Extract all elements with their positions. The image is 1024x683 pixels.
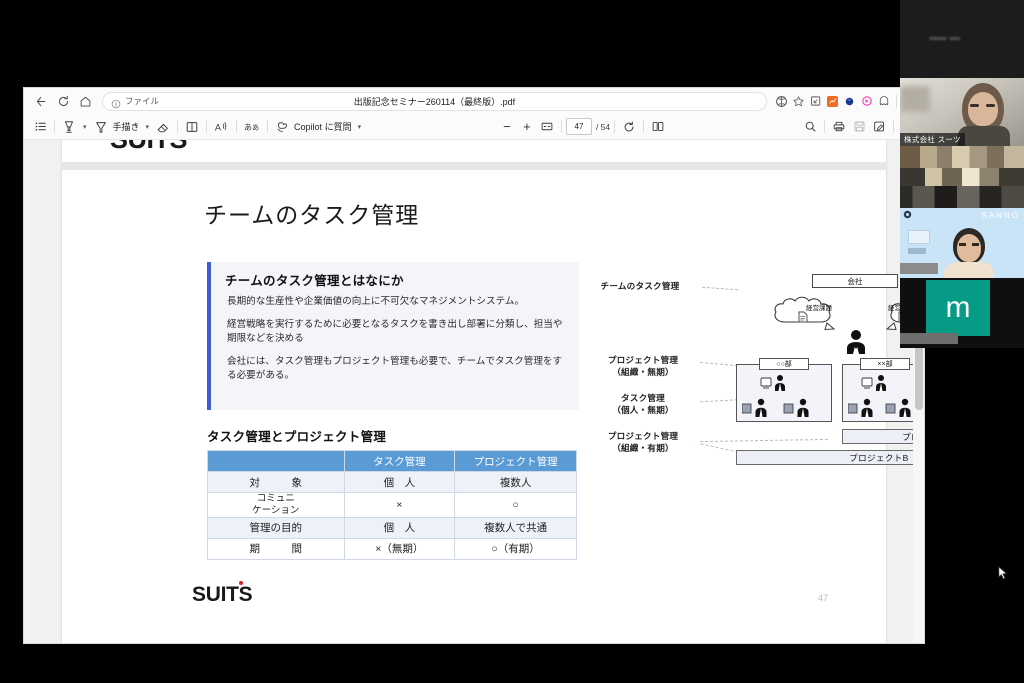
table-cell-task: ×（無期） — [344, 538, 455, 559]
page-number-input[interactable]: 47 — [566, 118, 592, 135]
previous-page-brand-logo: SUITS — [110, 140, 187, 155]
copilot-label[interactable]: Copilot に質問 — [292, 120, 354, 133]
svg-text:A: A — [215, 122, 222, 132]
project-bar-b-label: プロジェクトB — [849, 452, 908, 464]
table-cell-task: 個 人 — [344, 517, 455, 538]
leader-person-icon — [842, 328, 870, 356]
toolbar-divider — [177, 120, 178, 133]
project-bar-b: プロジェクトB — [736, 450, 924, 465]
copilot-chevron-down-icon[interactable]: ▾ — [354, 123, 366, 131]
table-cell-project: 複数人で共通 — [455, 517, 577, 538]
table-cell-label: 対 象 — [208, 472, 345, 493]
toolbar-divider — [236, 120, 237, 133]
split-screen-icon[interactable] — [807, 93, 824, 110]
participant-name-bar — [900, 333, 958, 344]
company-box: 会社 — [812, 274, 898, 288]
browser-window: ファイル 出版記念セミナー260114（最終版）.pdf — [24, 88, 924, 643]
draw-label[interactable]: 手描き — [111, 120, 142, 133]
participant-eye-right — [972, 243, 979, 246]
toolbar-divider — [206, 120, 207, 133]
address-scheme-label: ファイル — [125, 95, 159, 107]
pink-extension-icon[interactable] — [858, 93, 875, 110]
rotate-icon[interactable] — [619, 117, 639, 137]
table-cell-task: × — [344, 493, 455, 518]
participant-tile-pixelated[interactable] — [900, 146, 1024, 208]
participant-tile-sanno[interactable]: SANNO — [900, 208, 1024, 278]
eraser-icon[interactable] — [153, 117, 173, 137]
participant-name-blurred: ••••• ••• — [930, 36, 961, 43]
callout-box: チームのタスク管理とはなにか 長期的な生産性や企業価値の向上に不可欠なマネジメン… — [207, 262, 579, 410]
diagram-label-project-org-indefinite: プロジェクト管理 （組織・無期） — [590, 354, 696, 378]
toolbar-divider — [54, 120, 55, 133]
translate-icon[interactable]: ああ — [241, 117, 263, 137]
table-row: 期 間 ×（無期） ○（有期） — [208, 538, 577, 559]
draw-pen-icon[interactable] — [91, 117, 111, 137]
table-cell-label-line1: コミュニ — [257, 493, 295, 504]
participant-face — [957, 234, 981, 262]
search-icon[interactable] — [800, 117, 820, 137]
diagram-connector — [700, 439, 828, 442]
toolbar-divider — [614, 120, 615, 133]
participant-shoulders — [958, 126, 1010, 146]
table-cell-label: 管理の目的 — [208, 517, 345, 538]
pixelated-video-row-2 — [900, 168, 1024, 186]
zoom-out-button[interactable]: − — [497, 117, 517, 137]
table-cell-task: 個 人 — [344, 472, 455, 493]
table-cell-project: ○（有期） — [455, 538, 577, 559]
ghost-extension-icon[interactable] — [875, 93, 892, 110]
video-conference-panel: ••••• ••• 株式会社 スーツ SANNO — [900, 0, 1024, 348]
camera-off-icon — [903, 210, 912, 219]
table-caption: タスク管理とプロジェクト管理 — [207, 426, 386, 445]
logo-red-dot-icon — [239, 581, 243, 585]
home-icon[interactable] — [74, 90, 96, 112]
participant-tile-blurred-name[interactable]: ••••• ••• — [900, 0, 1024, 78]
page-view-icon[interactable] — [648, 117, 668, 137]
page-layout-icon[interactable] — [182, 117, 202, 137]
diagram-label-line: プロジェクト管理 — [608, 431, 678, 441]
favorite-star-icon[interactable] — [790, 93, 807, 110]
participant-tile-avatar[interactable]: m — [900, 278, 1024, 348]
toolbar-divider — [893, 120, 894, 133]
mouse-cursor — [998, 566, 1008, 581]
pdf-page: SUITS チームのタスク管理 チームのタスク管理とはなにか 長期的な生産性や企… — [62, 140, 886, 643]
diagram-label-line: チームのタスク管理 — [601, 281, 680, 291]
highlight-chevron-down-icon[interactable]: ▾ — [79, 123, 91, 131]
svg-text:あ: あ — [252, 123, 259, 132]
callout-paragraph: 長期的な生産性や企業価値の向上に不可欠なマネジメントシステム。 — [227, 295, 571, 309]
table-cell-label: 期 間 — [208, 538, 345, 559]
project-bar-a: プロジェクトA — [842, 429, 924, 444]
diagram-label-project-org-fixed: プロジェクト管理 （組織・有期） — [590, 430, 696, 454]
slide-thumbnail — [908, 230, 930, 244]
table-body: 対 象 個 人 複数人 コミュニケーション × ○ 管理の目的 — [208, 472, 577, 560]
annotate-icon[interactable] — [869, 117, 889, 137]
toolbar-divider — [561, 120, 562, 133]
pdf-viewer[interactable]: SUITS チームのタスク管理 チームのタスク管理とはなにか 長期的な生産性や企… — [24, 140, 924, 643]
browser-address-bar: ファイル 出版記念セミナー260114（最終版）.pdf — [24, 88, 924, 114]
participant-shoulders — [944, 262, 994, 278]
thumbnail-caption — [908, 248, 926, 254]
highlight-pen-icon[interactable] — [59, 117, 79, 137]
background-blur — [900, 86, 930, 112]
callout-body: 長期的な生産性や企業価値の向上に不可欠なマネジメントシステム。 経営戦略を実行す… — [227, 295, 571, 383]
collections-icon[interactable] — [773, 93, 790, 110]
participant-face — [968, 92, 998, 126]
save-icon[interactable] — [849, 117, 869, 137]
fit-to-page-icon[interactable] — [537, 117, 557, 137]
chart-extension-icon[interactable] — [824, 93, 841, 110]
svg-text:あ: あ — [244, 123, 252, 132]
table-cell-project: ○ — [455, 493, 577, 518]
diagram-connector — [702, 287, 738, 291]
table-header-row: タスク管理 プロジェクト管理 — [208, 451, 577, 472]
department-members-top-1 — [759, 374, 805, 392]
callout-heading: チームのタスク管理とはなにか — [225, 270, 404, 289]
refresh-icon[interactable] — [52, 90, 74, 112]
participant-name-bar — [900, 263, 938, 274]
table-of-contents-icon[interactable] — [30, 117, 50, 137]
table-header: タスク管理 プロジェクト管理 — [208, 451, 577, 472]
diagram-label-line: （組織・有期） — [612, 443, 674, 453]
participant-tile-speaker[interactable]: 株式会社 スーツ — [900, 78, 1024, 146]
callout-paragraph: 経営戦略を実行するために必要となるタスクを書き出し部署に分類し、担当や期限などを… — [227, 318, 571, 346]
document-icon — [797, 311, 809, 323]
toolbar-divider — [643, 120, 644, 133]
slide-brand-logo: SUITS — [192, 583, 252, 607]
back-arrow-icon[interactable] — [30, 90, 52, 112]
print-icon[interactable] — [829, 117, 849, 137]
callout-paragraph: 会社には、タスク管理もプロジェクト管理も必要で、チームでタスク管理をする必要があ… — [227, 355, 571, 383]
slide-page-number: 47 — [818, 593, 828, 603]
diagram-label-line: タスク管理 — [621, 393, 665, 403]
slide-brand-text: SUITS — [192, 583, 252, 606]
toolbar-divider — [267, 120, 268, 133]
diagram-label-task-personal-indefinite: タスク管理 （個人・無期） — [590, 392, 696, 416]
diagram-label-line: （組織・無期） — [612, 367, 674, 377]
slide-title: チームのタスク管理 — [204, 196, 419, 230]
pdf-toolbar: ▾ 手描き ▾ A ああ Copil — [24, 114, 924, 140]
blue-dot-extension-icon[interactable] — [841, 93, 858, 110]
department-members-bottom-1 — [742, 398, 828, 418]
diagram-label-line: プロジェクト管理 — [608, 355, 678, 365]
zoom-in-button[interactable]: + — [517, 117, 537, 137]
pixelated-video-row-3 — [900, 186, 1024, 208]
department-tag-2: ××部 — [860, 358, 910, 370]
participant-eye-left — [959, 243, 966, 246]
slide-content: チームのタスク管理 チームのタスク管理とはなにか 長期的な生産性や企業価値の向上… — [62, 170, 886, 625]
screen-root: ファイル 出版記念セミナー260114（最終版）.pdf — [0, 0, 1024, 683]
draw-chevron-down-icon[interactable]: ▾ — [142, 123, 154, 131]
company-box-label: 会社 — [848, 276, 863, 287]
avatar: m — [926, 280, 990, 336]
department-members-top-2 — [860, 374, 906, 392]
participant-name-badge: 株式会社 スーツ — [900, 133, 965, 146]
page-total-label: / 54 — [596, 122, 610, 132]
info-circle-icon — [111, 96, 121, 106]
participant-eye-right — [986, 104, 995, 107]
toolbar-divider — [824, 120, 825, 133]
table-cell-label: コミュニケーション — [208, 493, 345, 518]
table-row: 対 象 個 人 複数人 — [208, 472, 577, 493]
table-header-cell: タスク管理 — [344, 451, 455, 472]
table-row: 管理の目的 個 人 複数人で共通 — [208, 517, 577, 538]
sanno-watermark: SANNO — [982, 211, 1020, 220]
organization-diagram: チームのタスク管理 プロジェクト管理 （組織・無期） タスク管理 （個人・無期）… — [584, 266, 924, 566]
address-document-title: 出版記念セミナー260114（最終版）.pdf — [103, 95, 766, 108]
page-gap — [62, 162, 886, 170]
read-aloud-icon[interactable]: A — [211, 117, 232, 137]
comparison-table: タスク管理 プロジェクト管理 対 象 個 人 複数人 コミュニケ — [207, 450, 577, 560]
diagram-label-team-task: チームのタスク管理 — [584, 280, 696, 292]
toolbar-divider — [896, 95, 897, 108]
address-input[interactable]: ファイル 出版記念セミナー260114（最終版）.pdf — [102, 92, 767, 111]
copilot-icon[interactable] — [272, 117, 292, 137]
table-row: コミュニケーション × ○ — [208, 493, 577, 518]
table-cell-project: 複数人 — [455, 472, 577, 493]
participant-eye-left — [970, 104, 979, 107]
table-header-cell: プロジェクト管理 — [455, 451, 577, 472]
department-tag-1: ○○部 — [759, 358, 809, 370]
previous-page-sliver: SUITS — [62, 140, 886, 162]
table-cell-label-line2: ケーション — [252, 505, 299, 516]
table-header-cell — [208, 451, 345, 472]
diagram-label-line: （個人・無期） — [612, 405, 674, 415]
